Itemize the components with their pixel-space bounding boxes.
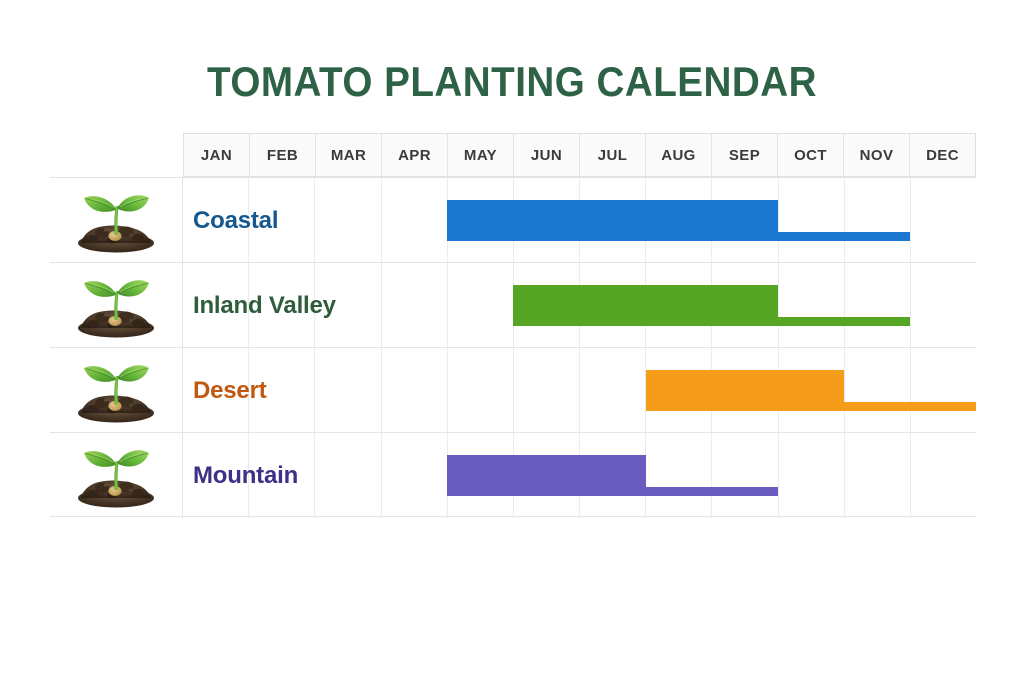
month-header-oct: OCT xyxy=(778,134,844,176)
region-label: Coastal xyxy=(183,178,382,263)
planting-bar-extended[interactable] xyxy=(778,232,910,241)
seedling-icon xyxy=(50,178,183,263)
seedling-illustration xyxy=(62,273,170,339)
seedling-illustration xyxy=(62,443,170,509)
region-label: Mountain xyxy=(183,433,382,518)
month-header-jul: JUL xyxy=(580,134,646,176)
month-header-may: MAY xyxy=(448,134,514,176)
planting-bar-main[interactable] xyxy=(513,285,777,326)
calendar-row: Mountain xyxy=(50,432,976,517)
planting-bar-main[interactable] xyxy=(646,370,844,411)
seedling-illustration xyxy=(62,358,170,424)
month-header-jun: JUN xyxy=(514,134,580,176)
planting-bar-extended[interactable] xyxy=(646,487,778,496)
calendar-row: Desert xyxy=(50,347,976,432)
planting-bar-main[interactable] xyxy=(447,200,777,241)
region-label: Desert xyxy=(183,348,382,433)
month-header-feb: FEB xyxy=(250,134,316,176)
month-header-sep: SEP xyxy=(712,134,778,176)
region-label: Inland Valley xyxy=(183,263,382,348)
calendar-table: JANFEBMARAPRMAYJUNJULAUGSEPOCTNOVDEC xyxy=(50,133,976,519)
planting-calendar-page: TOMATO PLANTING CALENDAR JANFEBMARAPRMAY… xyxy=(0,0,1024,683)
calendar-row: Coastal xyxy=(50,177,976,262)
seedling-icon xyxy=(50,348,183,433)
region-rows: Coastal xyxy=(50,177,976,519)
calendar-row: Inland Valley xyxy=(50,262,976,347)
seedling-icon xyxy=(50,263,183,348)
seedling-illustration xyxy=(62,188,170,254)
month-header-row: JANFEBMARAPRMAYJUNJULAUGSEPOCTNOVDEC xyxy=(183,133,976,177)
month-header-dec: DEC xyxy=(910,134,975,176)
month-header-aug: AUG xyxy=(646,134,712,176)
planting-bar-extended[interactable] xyxy=(844,402,976,411)
planting-bar-main[interactable] xyxy=(447,455,645,496)
seedling-icon xyxy=(50,433,183,518)
month-header-mar: MAR xyxy=(316,134,382,176)
month-header-nov: NOV xyxy=(844,134,910,176)
month-header-apr: APR xyxy=(382,134,448,176)
planting-bar-extended[interactable] xyxy=(778,317,910,326)
month-header-jan: JAN xyxy=(184,134,250,176)
page-title: TOMATO PLANTING CALENDAR xyxy=(41,58,983,106)
